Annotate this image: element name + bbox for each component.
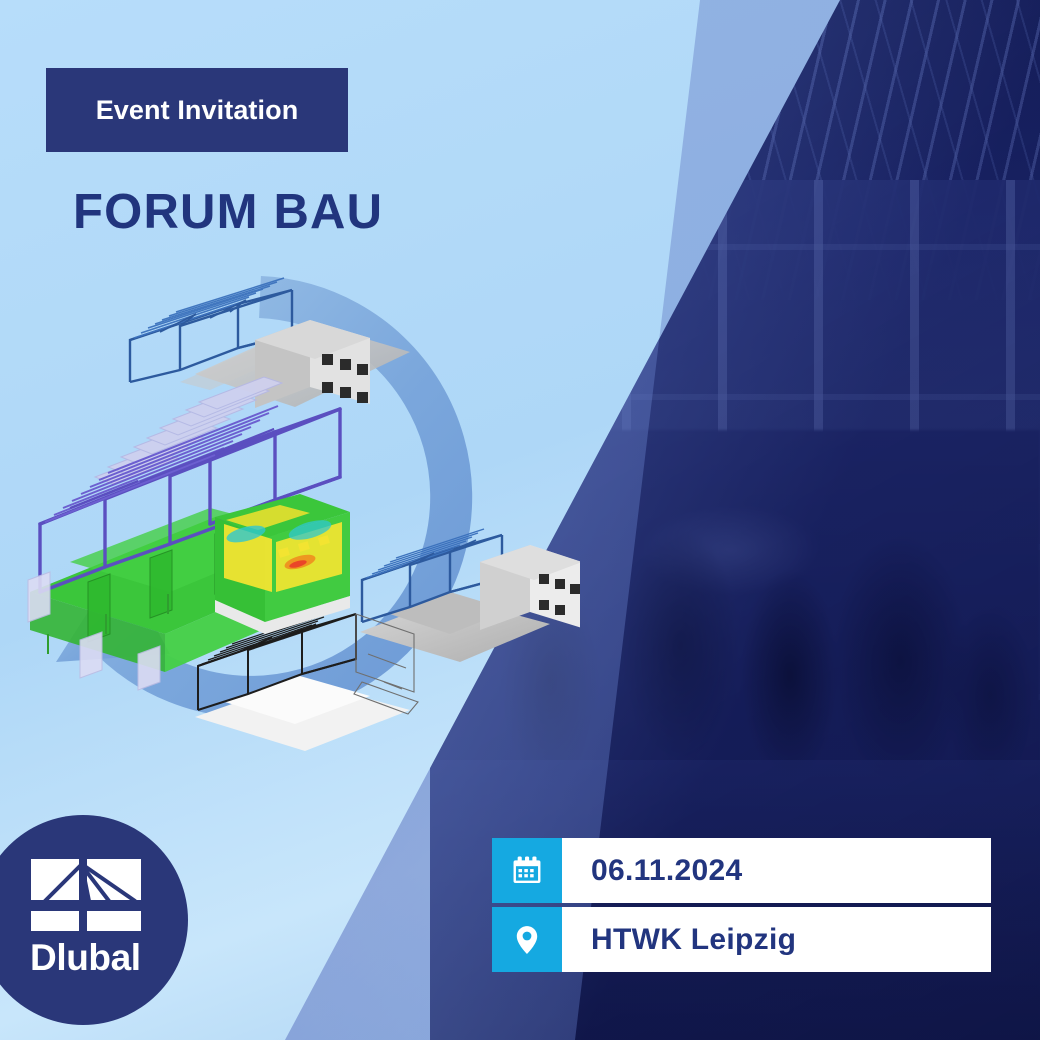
page-title: FORUM BAU [73,184,383,240]
location-pin-icon [492,907,562,972]
event-details-panel: 06.11.2024 HTWK Leipzig [492,838,991,972]
event-date-cell: 06.11.2024 [562,838,991,903]
badge-label: Event Invitation [96,95,299,126]
steel-frame-with-annex-model [130,278,410,408]
bim-workflow-illustration [10,262,580,782]
annex-block-right [480,545,580,630]
dlubal-wordmark: Dlubal [30,937,141,979]
event-date-row: 06.11.2024 [492,838,991,903]
event-invitation-badge: Event Invitation [46,68,348,152]
event-location-value: HTWK Leipzig [591,923,796,957]
stress-contour-block [215,494,350,634]
poster-canvas: Event Invitation FORUM BAU [0,0,1040,1040]
dlubal-logo: Dlubal [0,815,188,1025]
event-date-value: 06.11.2024 [591,854,743,888]
hall-lamp-icon [626,176,670,198]
event-location-cell: HTWK Leipzig [562,907,991,972]
event-location-row: HTWK Leipzig [492,907,991,972]
calendar-icon [492,838,562,903]
bridge-icon [31,859,141,936]
